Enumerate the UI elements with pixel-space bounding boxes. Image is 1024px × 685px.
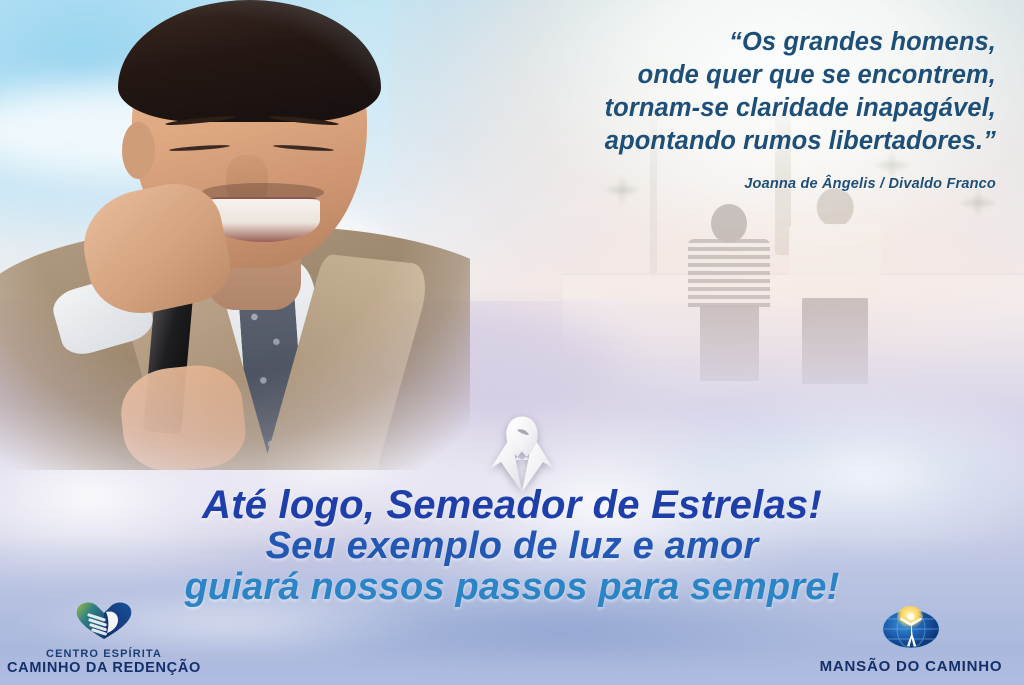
backdrop-person-torso <box>789 224 880 302</box>
quote-line-2: onde quer que se encontrem, <box>436 59 996 92</box>
quote-line-4: apontando rumos libertadores.” <box>436 125 996 158</box>
backdrop-person-child <box>688 204 770 380</box>
globe-figure-icon <box>806 604 1016 655</box>
backdrop-person-legs <box>700 306 759 380</box>
backdrop-person-head <box>711 204 747 243</box>
quote-line-3: tornam-se claridade inapagável, <box>436 92 996 125</box>
memorial-poster: “Os grandes homens, onde quer que se enc… <box>0 0 1024 685</box>
backdrop-person-legs <box>802 298 868 384</box>
portrait-photo <box>0 0 470 470</box>
logo-left-line-2: CAMINHO DA REDENÇÃO <box>6 660 202 677</box>
backdrop-person-adult <box>789 188 880 383</box>
quote-block: “Os grandes homens, onde quer que se enc… <box>436 26 996 193</box>
headline-block: Até logo, Semeador de Estrelas! Seu exem… <box>0 484 1024 607</box>
logo-mansao-do-caminho[interactable]: MANSÃO DO CAMINHO <box>806 604 1016 675</box>
logo-left-line-1: CENTRO ESPÍRITA <box>6 648 202 661</box>
quote-line-1: “Os grandes homens, <box>436 26 996 59</box>
quote-attribution: Joanna de Ângelis / Divaldo Franco <box>436 175 996 194</box>
backdrop-person-torso <box>688 239 770 310</box>
white-awareness-ribbon-icon <box>487 410 557 494</box>
headline-line-1: Até logo, Semeador de Estrelas! <box>0 484 1024 526</box>
portrait-ear <box>122 122 155 178</box>
logo-centro-espirita[interactable]: CENTRO ESPÍRITA CAMINHO DA REDENÇÃO <box>6 600 202 677</box>
portrait-hair <box>118 0 381 122</box>
heart-hands-icon <box>6 600 202 645</box>
headline-line-2: Seu exemplo de luz e amor <box>0 526 1024 566</box>
backdrop-person-head <box>817 188 854 227</box>
logo-right-line-1: MANSÃO DO CAMINHO <box>806 658 1016 675</box>
